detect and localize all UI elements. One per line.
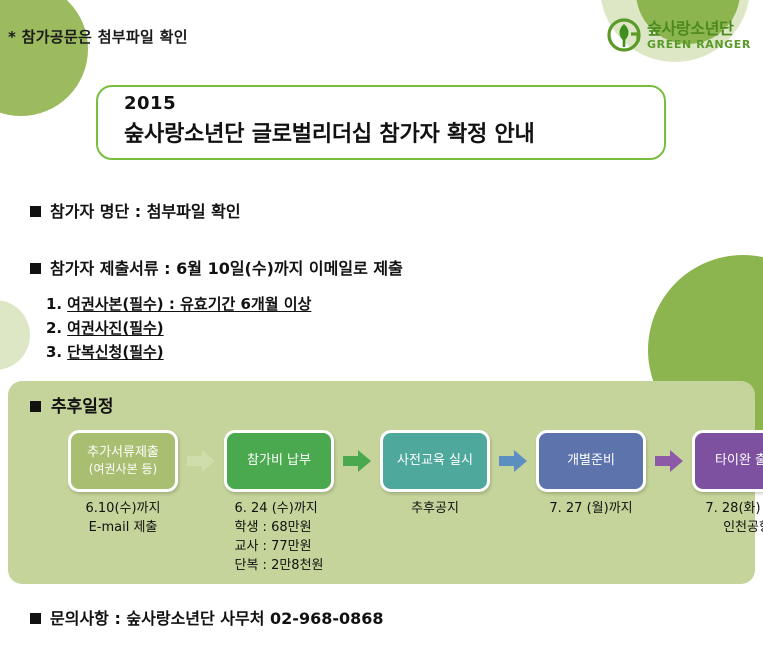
decorative-circle-top-left (0, 0, 88, 116)
flow-step-5: 타이완 출발 7. 28(화) 출발인천공항 (688, 430, 763, 538)
logo-name-korean: 숲사랑소년단 (647, 21, 751, 37)
flow-step-label: 개별준비 (567, 453, 615, 469)
flow-step-caption: 추후공지 (411, 500, 459, 519)
flow-step-box: 사전교육 실시 (380, 430, 490, 492)
schedule-section-title: 추후일정 (30, 392, 114, 417)
slide-canvas: * 참가공문은 첨부파일 확인 숲사랑소년단 GREEN RANGER 2015… (0, 0, 763, 665)
flow-arrow-4-icon (650, 430, 688, 492)
list-item: 2. 여권사진(필수) (46, 317, 311, 338)
decorative-circle-left-small (0, 300, 30, 370)
flow-step-caption: 6. 24 (수)까지학생 : 68만원교사 : 77만원단복 : 2만8천원 (235, 500, 324, 575)
organization-logo: 숲사랑소년단 GREEN RANGER (607, 18, 751, 52)
bullet-text: 참가자 제출서류 : 6월 10일(수)까지 이메일로 제출 (50, 255, 403, 279)
flow-step-caption: 6.10(수)까지E-mail 제출 (86, 500, 161, 538)
list-item: 1. 여권사본(필수) : 유효기간 6개월 이상 (46, 293, 311, 314)
flow-step-4: 개별준비 7. 27 (월)까지 (532, 430, 650, 519)
flow-step-box: 추가서류제출 (여권사본 등) (68, 430, 178, 492)
flow-step-3: 사전교육 실시 추후공지 (376, 430, 494, 519)
logo-name-english: GREEN RANGER (647, 39, 751, 50)
footer-contact: 문의사항 : 숲사랑소년단 사무처 02-968-0868 (30, 605, 384, 629)
flow-arrow-3-icon (494, 430, 532, 492)
list-item-number: 2. (46, 319, 62, 337)
flow-step-label: 참가비 납부 (247, 453, 311, 469)
list-item-label: 여권사본(필수) : 유효기간 6개월 이상 (67, 293, 311, 314)
flow-step-caption: 7. 28(화) 출발인천공항 (705, 500, 763, 538)
flow-step-2: 참가비 납부 6. 24 (수)까지학생 : 68만원교사 : 77만원단복 :… (220, 430, 338, 575)
title-year: 2015 (124, 93, 664, 114)
flow-arrow-1-icon (182, 430, 220, 492)
flow-step-label: 타이완 출발 (715, 453, 763, 469)
square-bullet-icon (30, 401, 41, 412)
flow-step-label: 추가서류제출 (87, 445, 159, 461)
schedule-title-label: 추후일정 (51, 392, 114, 417)
list-item-label: 단복신청(필수) (67, 341, 164, 362)
list-item: 3. 단복신청(필수) (46, 341, 311, 362)
green-ranger-emblem-icon (607, 18, 641, 52)
bullet-text: 참가자 명단 : 첨부파일 확인 (50, 198, 241, 222)
page-title: 숲사랑소년단 글로벌리더십 참가자 확정 안내 (124, 116, 664, 148)
document-requirements-list: 1. 여권사본(필수) : 유효기간 6개월 이상 2. 여권사진(필수) 3.… (46, 293, 311, 365)
bullet-required-documents: 참가자 제출서류 : 6월 10일(수)까지 이메일로 제출 (30, 255, 403, 279)
flow-step-1: 추가서류제출 (여권사본 등) 6.10(수)까지E-mail 제출 (64, 430, 182, 538)
footer-contact-text: 문의사항 : 숲사랑소년단 사무처 02-968-0868 (50, 605, 384, 629)
list-item-number: 3. (46, 343, 62, 361)
flow-arrow-2-icon (338, 430, 376, 492)
list-item-number: 1. (46, 295, 62, 313)
title-box: 2015 숲사랑소년단 글로벌리더십 참가자 확정 안내 (96, 85, 666, 160)
flow-step-box: 타이완 출발 (692, 430, 763, 492)
flow-step-caption: 7. 27 (월)까지 (549, 500, 632, 519)
square-bullet-icon (30, 613, 41, 624)
flow-step-box: 개별준비 (536, 430, 646, 492)
header-note: * 참가공문은 첨부파일 확인 (8, 26, 188, 47)
flow-step-label: 사전교육 실시 (397, 453, 473, 469)
flow-step-box: 참가비 납부 (224, 430, 334, 492)
schedule-flow-diagram: 추가서류제출 (여권사본 등) 6.10(수)까지E-mail 제출 참가비 납… (8, 430, 755, 575)
square-bullet-icon (30, 206, 41, 217)
square-bullet-icon (30, 263, 41, 274)
flow-step-sublabel: (여권사본 등) (89, 462, 157, 477)
list-item-label: 여권사진(필수) (67, 317, 164, 338)
bullet-participant-list: 참가자 명단 : 첨부파일 확인 (30, 198, 241, 222)
